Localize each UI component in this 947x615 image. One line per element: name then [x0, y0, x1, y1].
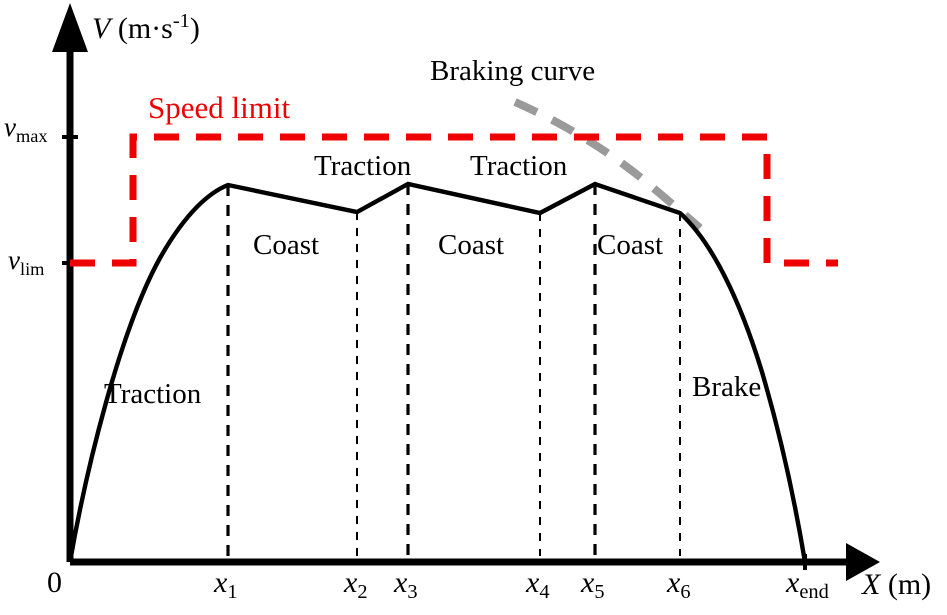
x-tick-label-x3-sub: 3: [407, 581, 417, 603]
traction-annotation-2: Traction: [470, 152, 567, 181]
x-tick-label-x4-sub: 4: [539, 581, 549, 603]
x-tick-label-x5-sub: 5: [594, 581, 604, 603]
x-tick-label-x5-var: x: [581, 566, 594, 599]
speed-limit-annotation: Speed limit: [148, 92, 290, 123]
x-tick-label-x1-sub: 1: [227, 581, 237, 603]
x-tick-label-x2: x2: [344, 568, 368, 598]
brake-annotation: Brake: [692, 373, 761, 402]
x-tick-label-xend: xend: [786, 568, 829, 598]
x-tick-label-x4: x4: [526, 568, 550, 598]
x-tick-label-x5: x5: [581, 568, 605, 598]
chart-canvas: [0, 0, 947, 615]
x-tick-label-x3: x3: [394, 568, 418, 598]
x-tick-label-xend-sub: end: [799, 581, 828, 603]
y-axis-arrowhead: [52, 3, 88, 52]
y-tick-label-vlim: vlim: [8, 247, 44, 274]
y-tick-label-vmax-sub: max: [16, 126, 48, 146]
y-tick-label-vmax: vmax: [4, 114, 48, 141]
y-tick-label-vmax-var: v: [4, 112, 16, 142]
y-axis-label-unit-exponent: -1: [173, 10, 190, 32]
y-tick-label-vlim-sub: lim: [20, 259, 44, 279]
speed-profile-figure: V (m·s-1) X (m) vmax vlim 0 x1 x2 x3 x4 …: [0, 0, 947, 615]
braking-curve-annotation: Braking curve: [430, 57, 595, 86]
x-tick-label-xend-var: x: [786, 566, 799, 599]
coast-annotation-3: Coast: [597, 231, 663, 260]
y-axis-label-unit-open: (m·s: [110, 12, 173, 45]
x-axis-label: X (m): [862, 570, 931, 600]
origin-label: 0: [47, 568, 62, 598]
x-tick-label-x6: x6: [667, 568, 691, 598]
y-axis-label-unit-close: ): [190, 12, 200, 45]
traction-annotation-1: Traction: [314, 152, 411, 181]
x-axis-label-unit: (m): [880, 568, 931, 601]
coast-annotation-1: Coast: [253, 231, 319, 260]
x-tick-label-x2-sub: 2: [357, 581, 367, 603]
x-tick-label-x4-var: x: [526, 566, 539, 599]
x-tick-label-x1: x1: [214, 568, 238, 598]
x-tick-label-x6-var: x: [667, 566, 680, 599]
x-tick-label-x6-sub: 6: [680, 581, 690, 603]
y-axis-label-var: V: [92, 12, 110, 45]
x-tick-label-x1-var: x: [214, 566, 227, 599]
x-axis-label-var: X: [862, 568, 880, 601]
x-tick-label-x3-var: x: [394, 566, 407, 599]
traction-annotation-initial: Traction: [104, 380, 201, 409]
y-tick-label-vlim-var: v: [8, 245, 20, 275]
coast-annotation-2: Coast: [438, 231, 504, 260]
y-axis-label: V (m·s-1): [92, 14, 200, 44]
x-tick-label-x2-var: x: [344, 566, 357, 599]
